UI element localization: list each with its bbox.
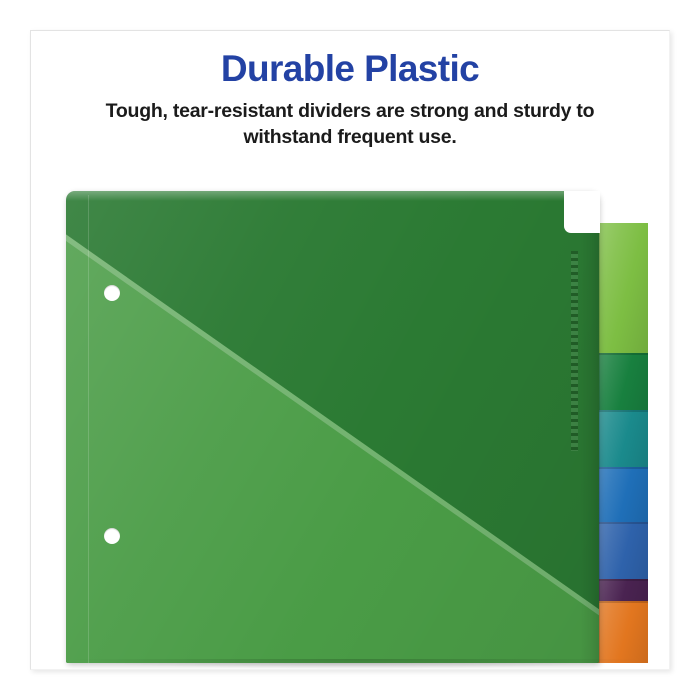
divider-crease-line	[88, 195, 89, 663]
punch-hole-top	[104, 285, 120, 301]
punch-hole-bottom	[104, 528, 120, 544]
divider-top-edge	[66, 191, 599, 201]
product-image-canvas: Durable Plastic Tough, tear-resistant di…	[0, 0, 700, 700]
pocket-right-edge	[526, 207, 600, 663]
pocket-ridge-teeth	[571, 251, 578, 451]
green-plastic-divider	[66, 191, 599, 663]
product-card: Durable Plastic Tough, tear-resistant di…	[30, 30, 670, 670]
product-photo	[31, 31, 669, 669]
divider-corner-notch	[564, 191, 600, 233]
product-contact-shadow	[75, 659, 635, 669]
pocket-edge-shading	[580, 207, 600, 663]
